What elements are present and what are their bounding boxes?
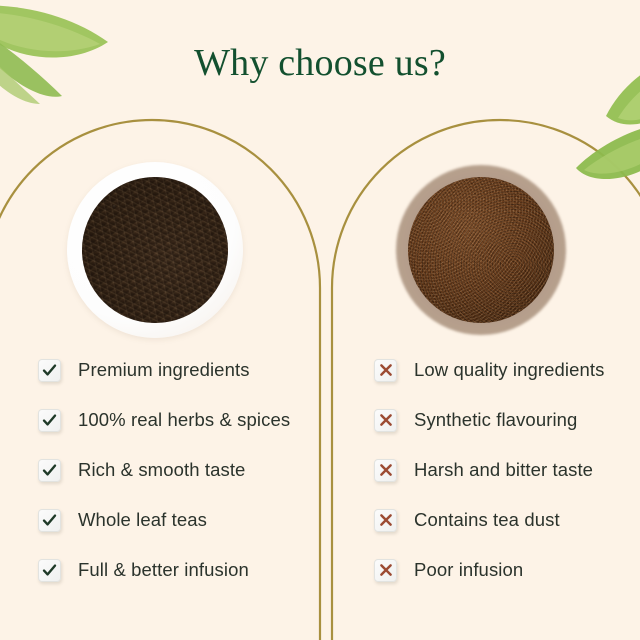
cross-icon <box>374 459 397 482</box>
cross-icon <box>374 359 397 382</box>
whole-leaf-tea-image <box>82 177 228 323</box>
tea-dust-image <box>408 177 554 323</box>
list-item-label: Contains tea dust <box>414 509 560 531</box>
drawbacks-list: Low quality ingredients Synthetic flavou… <box>374 345 632 595</box>
list-item[interactable]: 100% real herbs & spices <box>38 395 310 445</box>
list-item[interactable]: Harsh and bitter taste <box>374 445 632 495</box>
check-icon <box>38 559 61 582</box>
list-item[interactable]: Whole leaf teas <box>38 495 310 545</box>
list-item-label: Rich & smooth taste <box>78 459 245 481</box>
list-item-label: Full & better infusion <box>78 559 249 581</box>
list-item-label: Synthetic flavouring <box>414 409 577 431</box>
list-item[interactable]: Synthetic flavouring <box>374 395 632 445</box>
list-item[interactable]: Poor infusion <box>374 545 632 595</box>
cross-icon <box>374 509 397 532</box>
check-icon <box>38 409 61 432</box>
list-item-label: Harsh and bitter taste <box>414 459 593 481</box>
list-item[interactable]: Premium ingredients <box>38 345 310 395</box>
list-item-label: Premium ingredients <box>78 359 250 381</box>
check-icon <box>38 359 61 382</box>
benefits-list: Premium ingredients 100% real herbs & sp… <box>38 345 310 595</box>
list-item-label: 100% real herbs & spices <box>78 409 290 431</box>
cross-icon <box>374 559 397 582</box>
page-title: Why choose us? <box>0 40 640 86</box>
list-item[interactable]: Rich & smooth taste <box>38 445 310 495</box>
list-item-label: Poor infusion <box>414 559 523 581</box>
list-item[interactable]: Contains tea dust <box>374 495 632 545</box>
promo-card: Why choose us? Premium ingredients 100% … <box>0 0 640 640</box>
list-item[interactable]: Low quality ingredients <box>374 345 632 395</box>
cross-icon <box>374 409 397 432</box>
check-icon <box>38 509 61 532</box>
list-item-label: Whole leaf teas <box>78 509 207 531</box>
list-item[interactable]: Full & better infusion <box>38 545 310 595</box>
list-item-label: Low quality ingredients <box>414 359 605 381</box>
check-icon <box>38 459 61 482</box>
